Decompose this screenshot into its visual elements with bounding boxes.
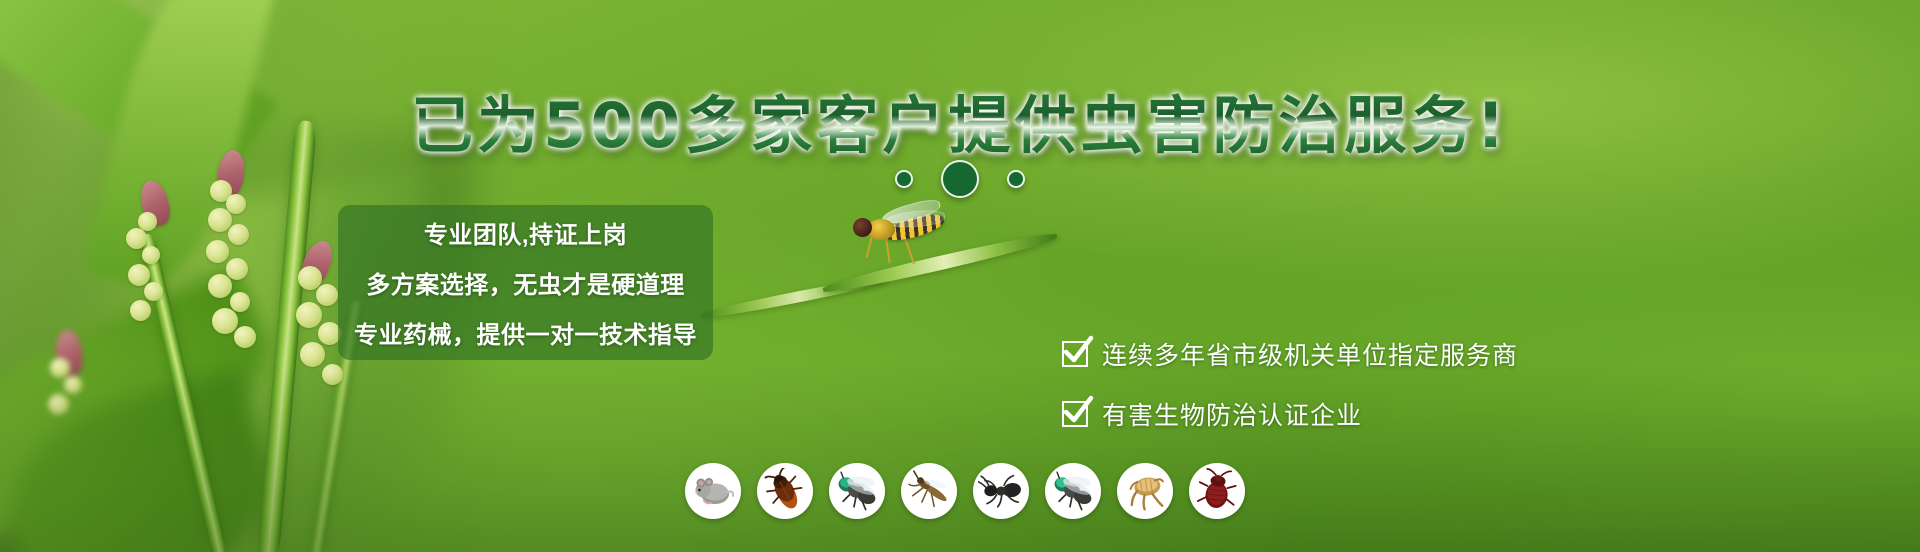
pest-icon-circle[interactable]: 蚂蚁	[973, 463, 1029, 519]
decorative-dot-small	[895, 170, 913, 188]
selling-point-line: 多方案选择，无虫才是硬道理	[366, 265, 685, 300]
mosquito-icon	[906, 468, 952, 514]
background-bottom-shade	[0, 362, 1920, 552]
flower-bud	[130, 300, 151, 321]
mouse-icon	[690, 468, 736, 514]
selling-points-panel: 专业团队,持证上岗 多方案选择，无虫才是硬道理 专业药械，提供一对一技术指导	[338, 205, 713, 360]
flower-bud	[144, 282, 163, 301]
flower-bud	[316, 284, 338, 306]
pest-type-icon-row: 鼠 蟑螂	[685, 463, 1245, 519]
decorative-dot-small	[1007, 170, 1025, 188]
flower-bud	[142, 246, 160, 264]
flower-bud	[126, 228, 147, 249]
fly-icon	[834, 468, 880, 514]
cockroach-icon	[762, 468, 808, 514]
flower-bud	[226, 258, 248, 280]
pest-control-hero-banner: 已为500多家客户提供虫害防治服务! 专业团队,持证上岗 多方案选择，无虫才是硬…	[0, 0, 1920, 552]
checklist-item: 连续多年省市级机关单位指定服务商	[1062, 336, 1518, 372]
ant-icon	[978, 468, 1024, 514]
fly-leg	[866, 236, 873, 258]
fly-head	[853, 218, 872, 237]
flea-icon	[1122, 468, 1168, 514]
checklist-item: 有害生物防治认证企业	[1062, 396, 1518, 432]
pest-icon-circle[interactable]: 跳蚤	[1117, 463, 1173, 519]
fly-leg	[885, 237, 891, 263]
checkbox-check-icon	[1062, 401, 1088, 427]
pest-icon-circle[interactable]: 鼠	[685, 463, 741, 519]
pest-icon-circle[interactable]: 苍蝇	[829, 463, 885, 519]
bedbug-icon	[1194, 468, 1240, 514]
pest-icon-circle[interactable]: 蚊	[901, 463, 957, 519]
headline-text: 已为500多家客户提供虫害防治服务!	[411, 75, 1509, 165]
decorative-dot-large	[941, 160, 979, 198]
pest-icon-circle[interactable]: 蟑螂	[757, 463, 813, 519]
flower-bud	[230, 292, 250, 312]
flower-bud	[228, 224, 249, 245]
flower-bud	[208, 274, 232, 298]
flower-bud	[212, 308, 238, 334]
greenbottle-fly-icon	[1050, 468, 1096, 514]
flower-bud	[234, 326, 256, 348]
flower-bud	[128, 264, 150, 286]
flower-bud	[296, 302, 322, 328]
selling-point-line: 专业团队,持证上岗	[424, 215, 627, 250]
headline: 已为500多家客户提供虫害防治服务!	[0, 75, 1920, 165]
checklist-item-label: 连续多年省市级机关单位指定服务商	[1102, 336, 1518, 372]
pest-icon-circle[interactable]: 绿头蝇	[1045, 463, 1101, 519]
decorative-dots	[0, 160, 1920, 198]
selling-point-line: 专业药械，提供一对一技术指导	[354, 315, 697, 350]
hoverfly-image	[845, 200, 955, 260]
pest-icon-circle[interactable]: 臭虫	[1189, 463, 1245, 519]
credentials-checklist: 连续多年省市级机关单位指定服务商 有害生物防治认证企业	[1062, 336, 1518, 432]
checkbox-check-icon	[1062, 341, 1088, 367]
checklist-item-label: 有害生物防治认证企业	[1102, 396, 1362, 432]
